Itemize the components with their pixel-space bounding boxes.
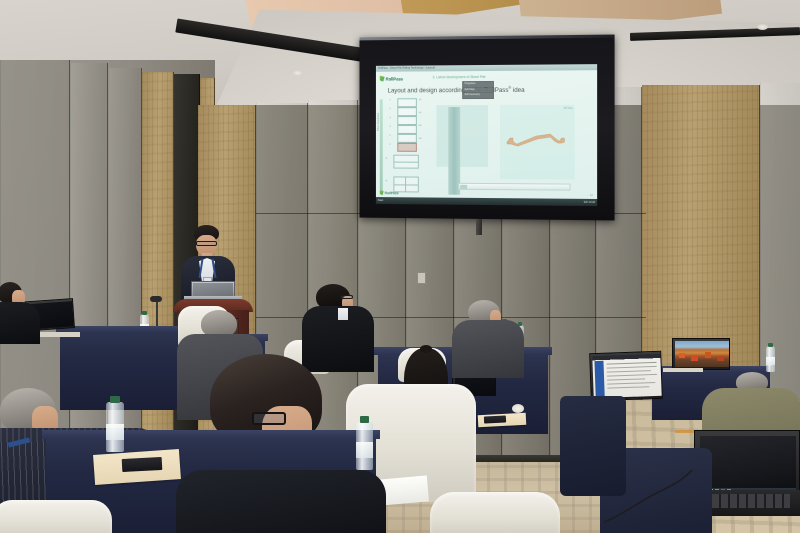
laptop-screen: [700, 436, 796, 494]
pass-cell: [397, 125, 417, 134]
screen-mount-bracket: [476, 219, 482, 235]
slide-center-panel: [436, 105, 488, 167]
water-bottle-foreground: [106, 402, 124, 452]
rollpass-leaf-icon: [380, 76, 385, 82]
pass-cell-highlighted: [397, 143, 417, 152]
pass-tick-label: 5: [390, 135, 391, 137]
bottle-cap: [768, 343, 773, 347]
slide-3d-viewport[interactable]: 3D View: [500, 105, 575, 180]
bottle-cap: [142, 311, 147, 315]
slide-title: Layout and design according to the RollP…: [388, 86, 525, 95]
slide-context-menu[interactable]: Properties Edit Pass Roll Geometry: [462, 81, 494, 99]
registered-mark: ®: [508, 86, 511, 90]
ceiling-downlight-icon: [292, 70, 303, 76]
cup: [512, 404, 524, 413]
roll-diagram-line: [393, 162, 418, 163]
glasses-icon: [340, 295, 353, 299]
attendee-torso: [0, 302, 40, 344]
pass-tick-label: 6: [390, 144, 391, 146]
document-sidebar: [594, 361, 604, 397]
pass-cell: [397, 134, 417, 143]
water-bottle-foreground: [356, 422, 373, 470]
document-line: [607, 366, 657, 369]
conference-room-photo: RollPass - Sheet Pile Rolling Technology…: [0, 0, 800, 533]
pass-tick-label: 3: [390, 117, 391, 119]
bottle-cap: [360, 416, 369, 423]
projected-taskbar[interactable]: Start EN 14:32: [376, 197, 597, 206]
slide-vertical-rail: [448, 107, 460, 195]
paper-sheet: [36, 332, 80, 337]
attendee-foreground-shoulder: [176, 470, 386, 533]
pass-right-tick: H4: [419, 138, 422, 140]
pass-right-tick: H3: [419, 125, 422, 127]
bottle-label: [766, 357, 775, 365]
laptop-back-right-lid: [672, 338, 730, 370]
wallpaper-detail: [691, 355, 698, 361]
pass-cell: [397, 107, 417, 116]
paper-sheet: [663, 368, 703, 372]
projected-slide: RollPass - Sheet Pile Rolling Technology…: [376, 64, 597, 206]
microphone-icon: [150, 296, 162, 302]
rollpass-leaf-icon: [380, 190, 384, 195]
slide-sequence-rail-label: Pass Sequence: [377, 113, 380, 131]
sheet-pile-profile-3d: [506, 131, 569, 151]
bottle-cap: [110, 396, 120, 403]
document-line: [607, 370, 651, 373]
wall-outlet-plate: [417, 272, 426, 284]
pass-tick-label: 1: [390, 99, 391, 101]
handheld-device-foreground[interactable]: [122, 457, 163, 472]
ceiling-downlight-icon: [757, 24, 768, 30]
context-menu-item[interactable]: Roll Geometry: [463, 93, 493, 98]
power-cable-on-floor: [600, 470, 710, 530]
scrollbar-thumb[interactable]: [460, 185, 467, 189]
laptop-screen-document: [592, 354, 661, 398]
taskbar-system-tray[interactable]: EN 14:32: [584, 201, 595, 204]
slide-sequence-rail: [380, 99, 383, 193]
pass-tick-label: 4: [390, 126, 391, 128]
laptop-screen-wallpaper: [675, 341, 729, 367]
water-bottle: [766, 346, 775, 372]
roll-diagram-label: B: [386, 180, 387, 182]
wallpaper-detail: [705, 352, 711, 358]
document-line: [607, 378, 645, 380]
glasses-icon: [196, 241, 217, 246]
bottle-label: [106, 424, 124, 440]
slide-breadcrumb: 3. Latest development of Sheet Pile: [433, 75, 486, 79]
projection-screen: RollPass - Sheet Pile Rolling Technology…: [359, 35, 614, 221]
banquet-chair-bottom: [430, 492, 560, 533]
presenter-laptop-screen: [193, 283, 233, 296]
slide-logo-text: RollPass: [386, 76, 403, 81]
attendee-collar: [338, 308, 348, 320]
slide-page-number: 12: [590, 193, 593, 197]
document-line: [607, 382, 655, 385]
glasses-icon: [252, 412, 286, 425]
slide-horizontal-scrollbar[interactable]: [458, 183, 570, 191]
table-top: [42, 430, 380, 439]
pass-cell: [397, 116, 417, 125]
roll-diagram-label: A: [386, 158, 387, 160]
document-line: [607, 374, 657, 377]
slide-footer-logo-text: RollPass: [385, 191, 399, 195]
document-line: [607, 386, 649, 388]
slide-window-content: RollPass 3. Latest development of Sheet …: [376, 70, 597, 199]
context-menu-item[interactable]: Properties: [463, 82, 493, 87]
context-menu-item[interactable]: Edit Pass: [463, 88, 493, 93]
wallpaper-detail: [679, 353, 685, 358]
slide-footer-logo: RollPass: [380, 190, 399, 195]
carpet-accent: [675, 430, 695, 433]
attendee-far-left: [0, 282, 42, 342]
pass-cell: [397, 98, 417, 107]
pass-tick-label: 2: [390, 108, 391, 110]
wallpaper-detail: [717, 356, 724, 361]
laptop-audience-right-lid: [589, 351, 663, 401]
document-line: [607, 362, 657, 365]
handheld-device: [484, 415, 506, 423]
taskbar-start-button[interactable]: Start: [378, 199, 383, 202]
slide-title-tail: idea: [513, 87, 525, 94]
bottle-label: [356, 442, 373, 458]
pass-right-tick: H1: [419, 99, 422, 101]
attendee-hair-tie: [420, 345, 432, 353]
slide-viewport-label: 3D View: [564, 107, 573, 110]
slide-logo: RollPass: [380, 74, 431, 82]
pass-right-tick: H2: [419, 112, 422, 114]
banquet-chair-bottom: [0, 500, 112, 533]
